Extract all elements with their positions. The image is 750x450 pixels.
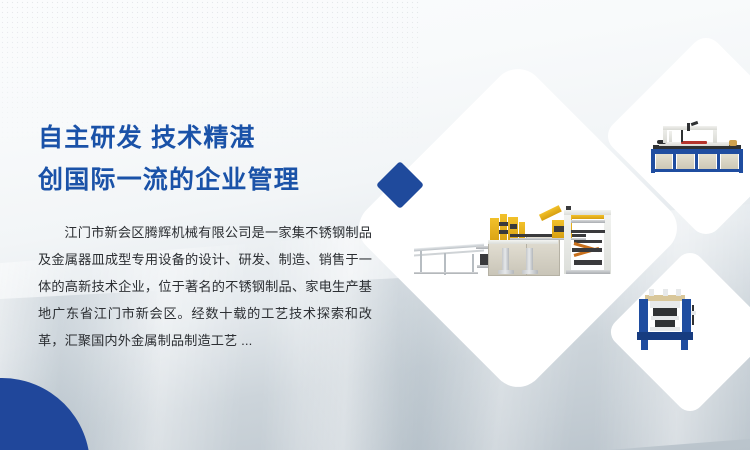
bench-forming-machine-image xyxy=(651,121,743,173)
company-intro-banner: 自主研发 技术精湛 创国际一流的企业管理 江门市新会区腾辉机械有限公司是一家集不… xyxy=(0,0,750,450)
production-line-machine-image xyxy=(414,196,616,288)
company-description-paragraph: 江门市新会区腾辉机械有限公司是一家集不锈钢制品及金属器皿成型专用设备的设计、研发… xyxy=(38,219,372,354)
hydraulic-press-machine-image xyxy=(637,289,703,351)
headline-line-1: 自主研发 技术精湛 xyxy=(38,118,378,159)
headline-line-2: 创国际一流的企业管理 xyxy=(38,160,378,201)
intro-text-block: 自主研发 技术精湛 创国际一流的企业管理 江门市新会区腾辉机械有限公司是一家集不… xyxy=(38,118,378,354)
